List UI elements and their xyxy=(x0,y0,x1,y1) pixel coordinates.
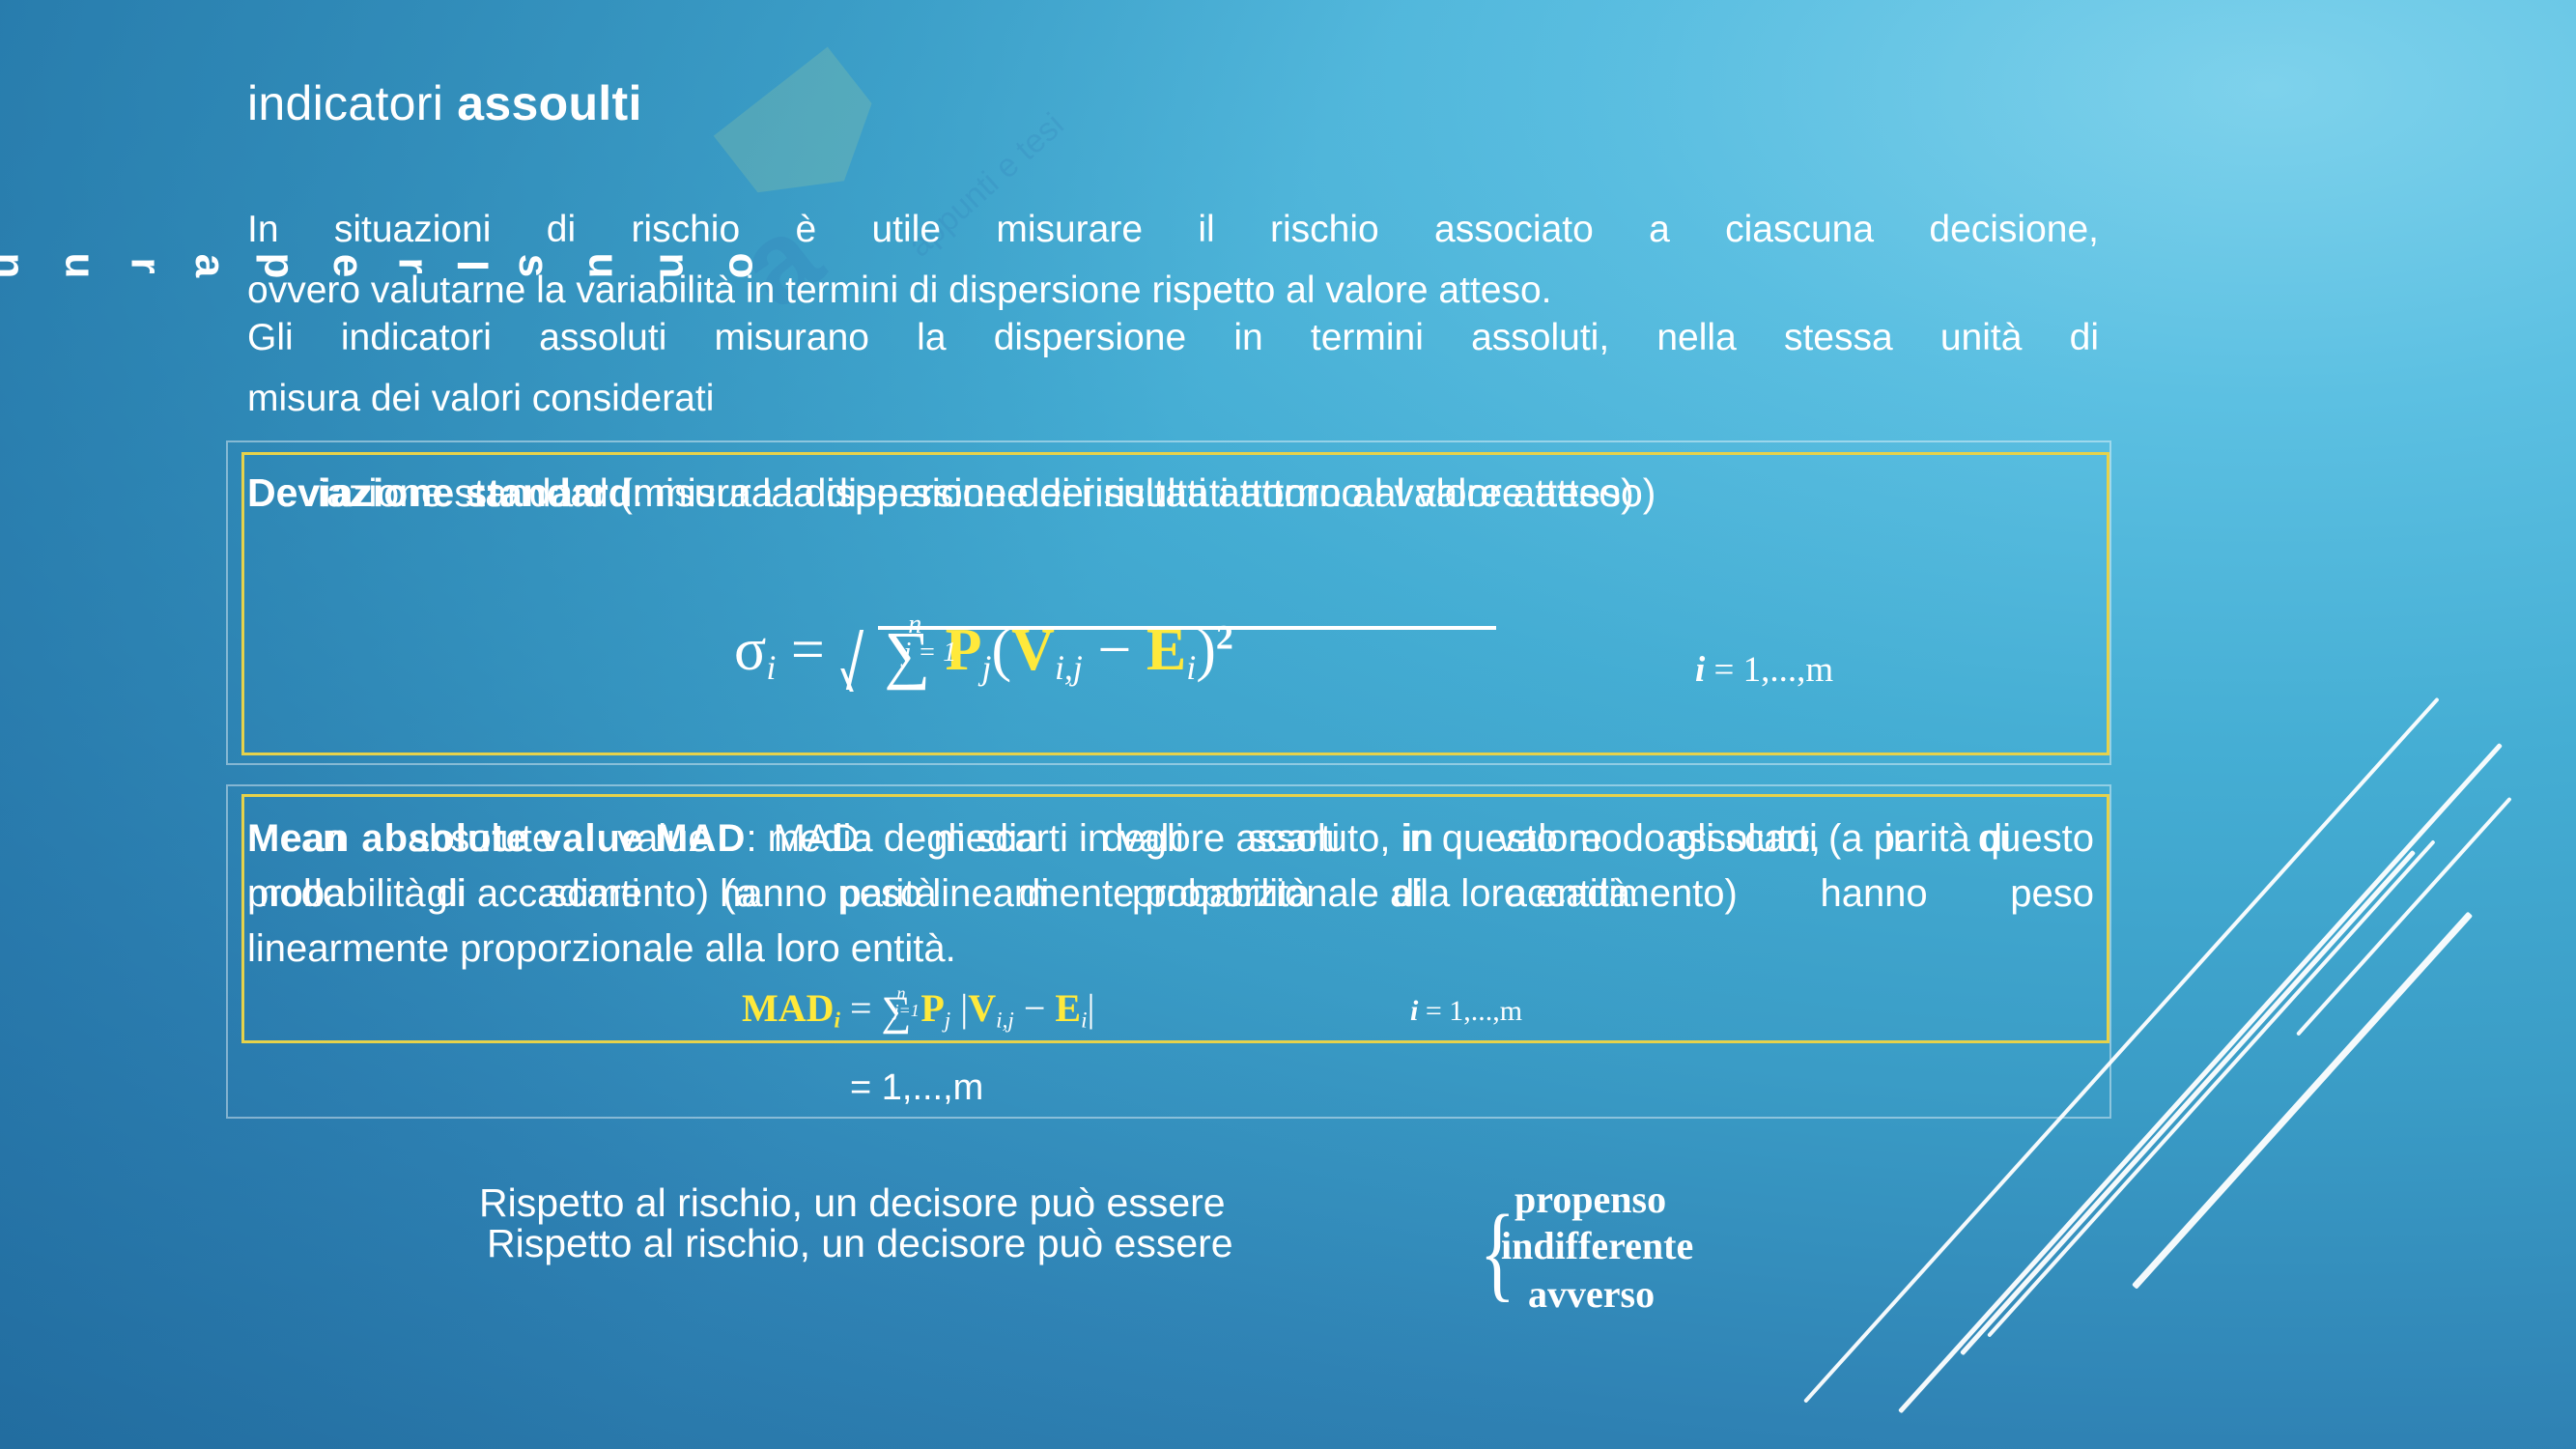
abs-bar-close: | xyxy=(1088,986,1095,1030)
exponent-two: 2 xyxy=(1216,617,1233,656)
intro-paragraph-2: Gli indicatori assoluti misurano la disp… xyxy=(247,307,2099,429)
presentation-slide: a appunti e tesi nuraperlsuno indicatori… xyxy=(0,0,2576,1449)
risk-option-propenso: propenso xyxy=(1514,1177,1666,1222)
square-root-radical: ∑ n j = 1 Pj(Vi,j − Ei)2 xyxy=(839,609,1232,693)
risk-attitude-block: Rispetto al rischio, un decisore può ess… xyxy=(479,1180,1735,1345)
mad-equals-sign: = xyxy=(850,986,872,1030)
sigma-symbol: σ xyxy=(734,617,766,683)
mad-sum-lower-limit: j=1 xyxy=(893,1001,919,1021)
title-normal-part: indicatori xyxy=(247,76,457,130)
mad-ghost-line-3: linearmente proporzionale alla loro enti… xyxy=(247,927,956,970)
mad-subscript: i xyxy=(835,1008,840,1033)
sigma-subscript: i xyxy=(766,648,776,687)
equals-sign: = xyxy=(791,617,825,683)
ghost-letter: u xyxy=(55,253,103,279)
summation-symbol-group: ∑ n j = 1 xyxy=(884,618,930,693)
std-index-range: = 1,...,m xyxy=(1705,650,1833,690)
mad-formula: MADi = ∑ n j=1 Pj |Vi,j − Ei| xyxy=(742,985,1095,1036)
deco-line xyxy=(2132,912,2473,1290)
mad-term: Mean absolute value MAD xyxy=(247,817,746,860)
std-index-note: i = 1,...,m xyxy=(1695,649,1833,691)
expected-value-subscript: i xyxy=(1186,648,1196,687)
mad-probability-subscript: j xyxy=(945,1008,950,1033)
std-heading-main-layer: Deviazione standard: misura la dispersio… xyxy=(247,464,2090,524)
sum-lower-limit: j = 1 xyxy=(903,638,956,668)
ghost-letter: r xyxy=(121,257,169,273)
std-term: Deviazione standard xyxy=(247,470,633,515)
mad-index-range: = 1,...,m xyxy=(1418,995,1522,1027)
mad-index-note: i = 1,...,m xyxy=(1410,995,1522,1028)
title-bold-part: assoulti xyxy=(457,76,641,130)
mad-value-subscript: i,j xyxy=(996,1008,1014,1033)
mad-expected-value-symbol: E xyxy=(1055,986,1081,1030)
mad-summation-symbol-group: ∑ n j=1 xyxy=(882,988,912,1036)
probability-subscript: j xyxy=(982,648,992,687)
std-deviation-formula: σi = ∑ n j = 1 Pj(Vi,j − Ei)2 xyxy=(734,609,1233,693)
mad-probability-symbol: P xyxy=(920,986,944,1030)
mad-symbol: MAD xyxy=(742,986,835,1030)
risk-sentence-ghost: Rispetto al rischio, un decisore può ess… xyxy=(479,1180,1226,1226)
mad-minus-sign: − xyxy=(1024,986,1046,1030)
std-index-variable: i xyxy=(1695,650,1705,690)
intro-paragraph: In situazioni di rischio è utile misurar… xyxy=(247,199,2099,321)
risk-option-indifferente: indifferente xyxy=(1501,1223,1693,1268)
deco-line xyxy=(2296,797,2512,1037)
mad-ghost-index-note: = 1,...,m xyxy=(850,1067,983,1109)
risk-sentence: Rispetto al rischio, un decisore può ess… xyxy=(487,1221,1233,1266)
ghost-letter: n xyxy=(0,253,33,279)
radical-overbar xyxy=(878,626,1496,630)
risk-option-avverso: avverso xyxy=(1528,1271,1655,1317)
intro-line-1: In situazioni di rischio è utile misurar… xyxy=(247,199,2099,260)
intro-line-4: misura dei valori considerati xyxy=(247,378,714,419)
value-subscript: i,j xyxy=(1055,648,1083,687)
intro-line-3: Gli indicatori assoluti misurano la disp… xyxy=(247,307,2099,368)
mad-heading-main-layer: Mean absolute value MAD: media degli sca… xyxy=(247,811,2094,922)
slide-title: indicatori assoulti xyxy=(247,75,642,131)
mad-value-symbol: V xyxy=(968,986,996,1030)
ghost-letter: a xyxy=(185,254,234,277)
std-definition: : misura la dispersione dei risultati at… xyxy=(633,470,1656,515)
sum-upper-limit: n xyxy=(908,610,921,640)
